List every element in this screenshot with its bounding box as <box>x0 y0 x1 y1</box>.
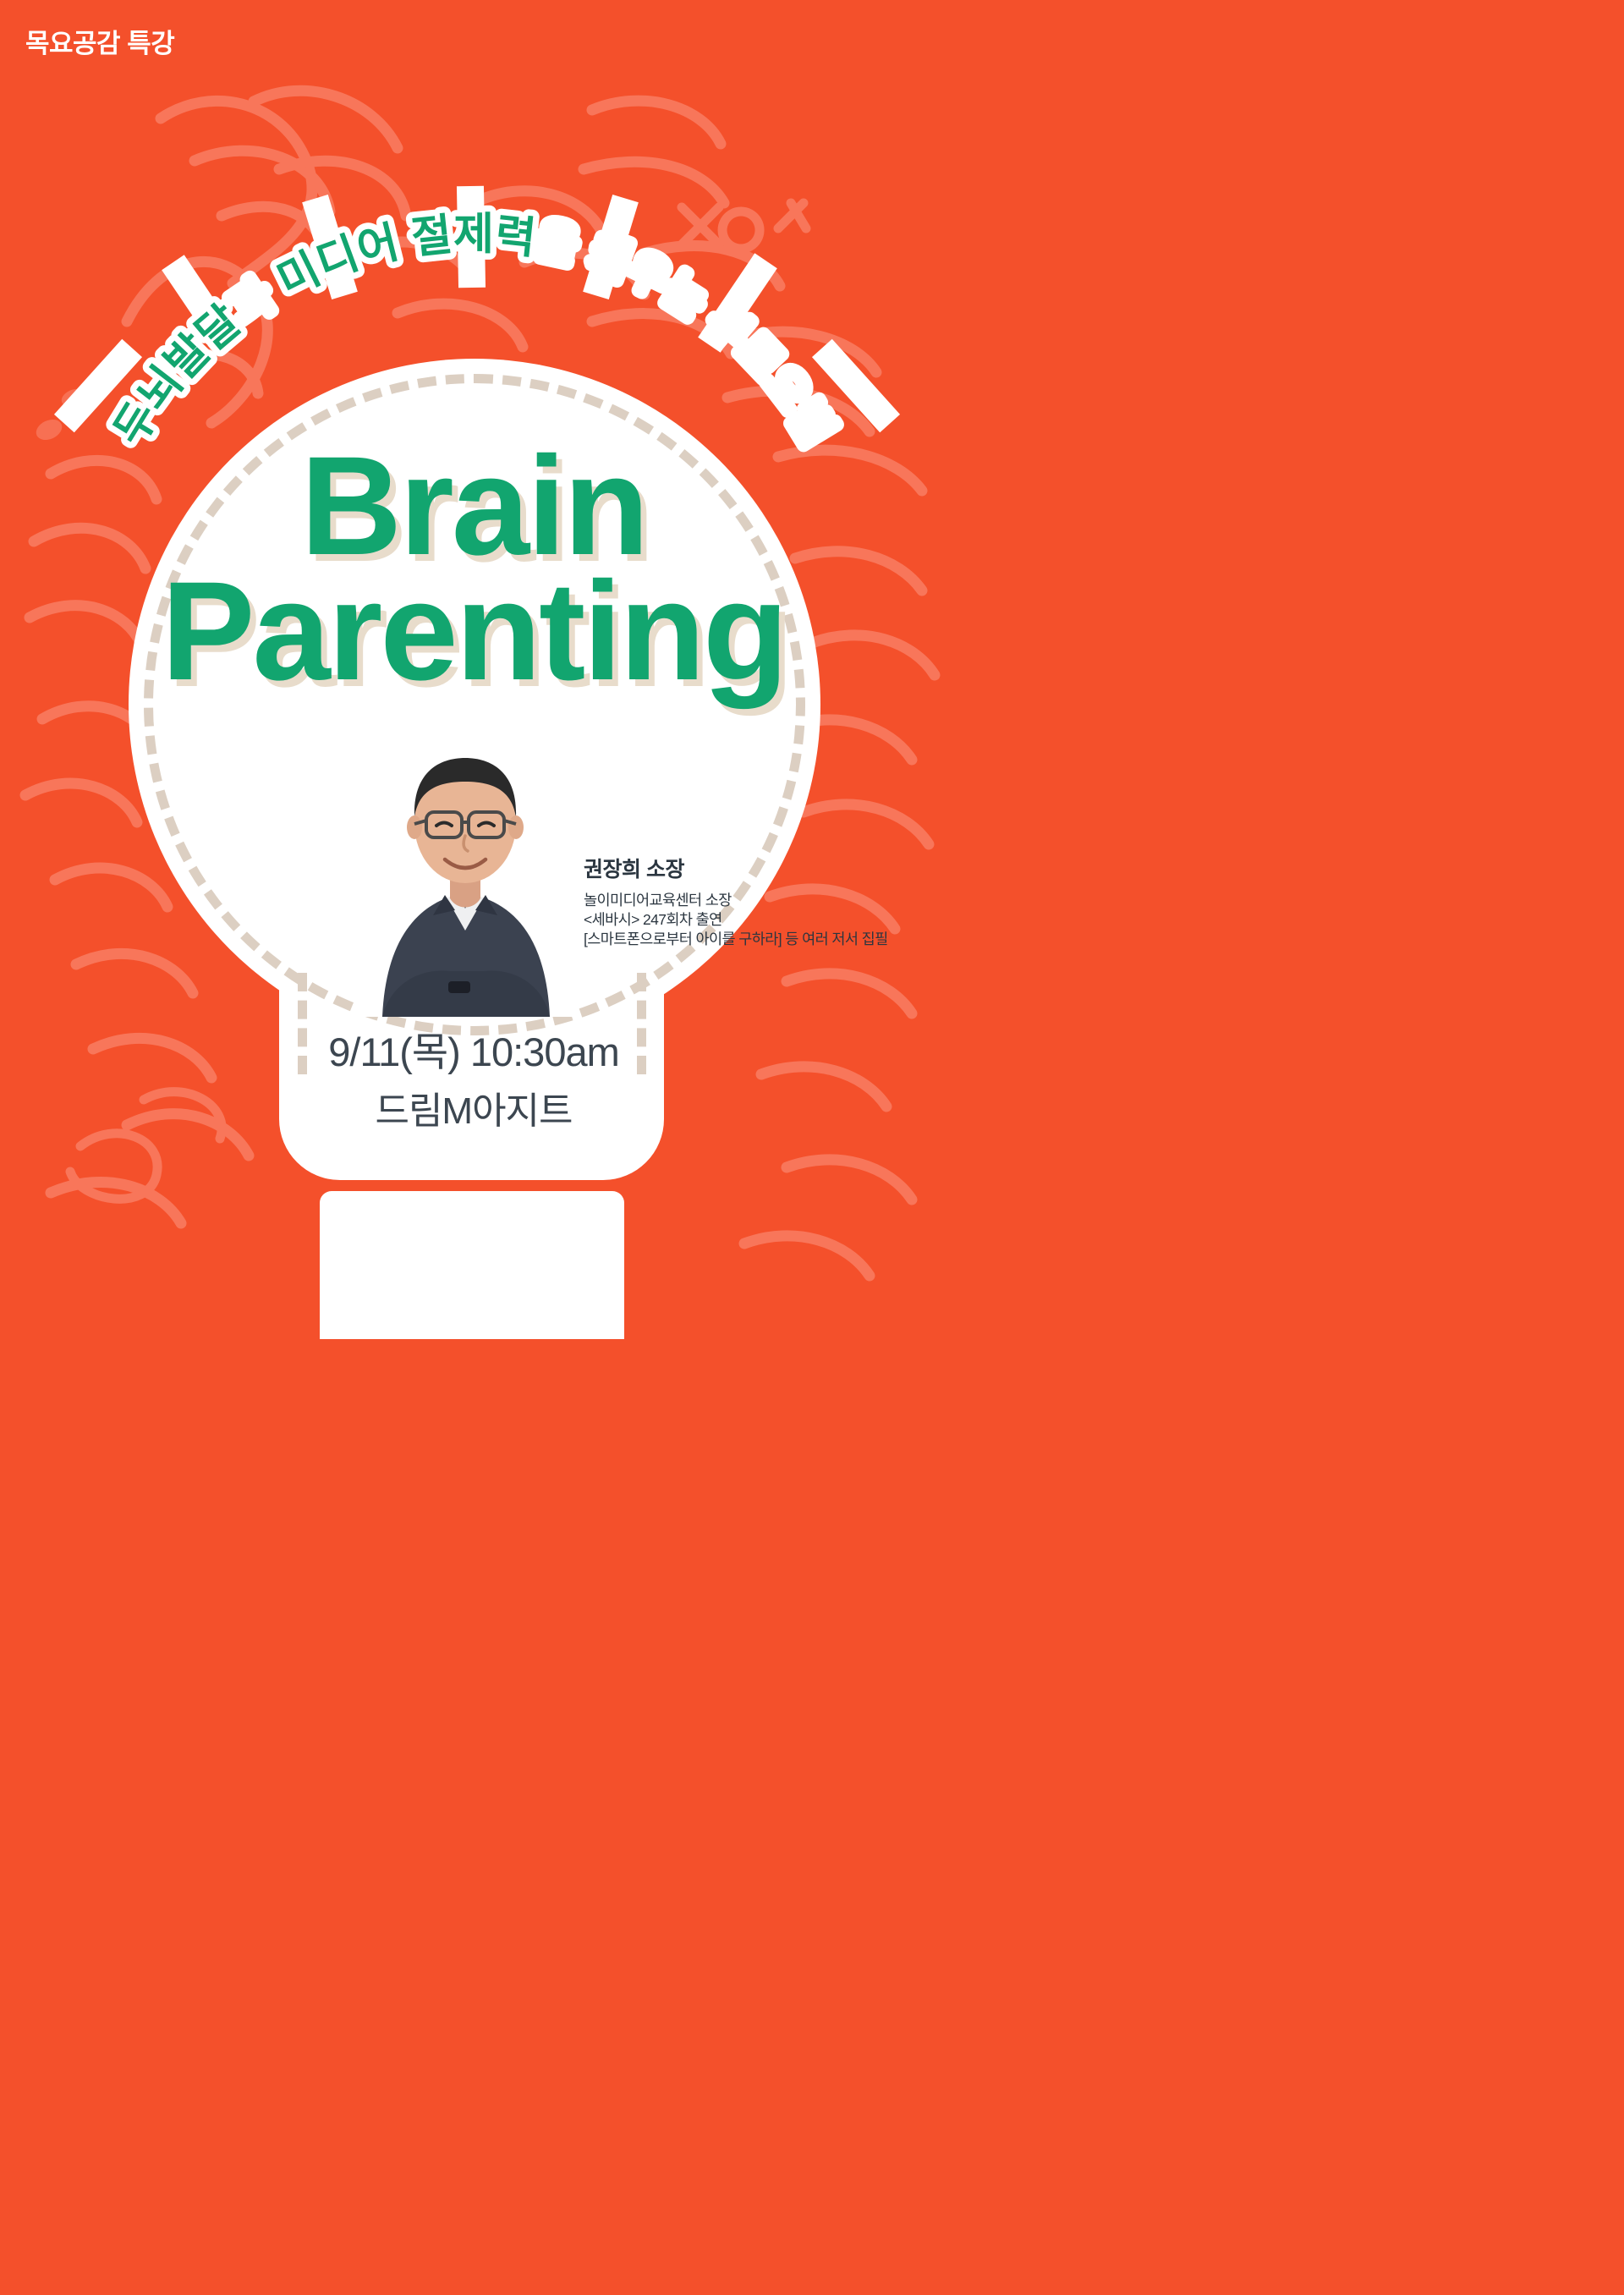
page-title: 목요공감 특강 <box>25 22 174 60</box>
speaker-info: 권장희 소장 놀이미디어교육센터 소장 <세바시> 247회차 출연 [스마트폰… <box>584 853 922 949</box>
schedule-block: 9/11(목) 10:30am 드림M아지트 <box>0 1030 947 1134</box>
speaker-credential-1: 놀이미디어교육센터 소장 <box>584 891 922 910</box>
title-line-parenting: Parenting <box>0 565 947 699</box>
speaker-photo <box>357 729 573 1017</box>
event-date: 9/11(목) 10:30am <box>0 1030 947 1075</box>
bulb-base <box>320 1191 624 1339</box>
arc-seg-1: 두뇌발달 <box>105 296 250 453</box>
poster-canvas: 목요공감 특강 두뇌발달과 미디어 절제력을 키우는 부모요법 <box>0 0 947 1339</box>
speaker-credential-2: <세바시> 247회차 출연 <box>584 910 922 930</box>
event-venue: 드림M아지트 <box>0 1080 947 1134</box>
arc-seg-2: 과 <box>222 264 293 334</box>
main-title: Brain Parenting <box>0 440 947 698</box>
speaker-name: 권장희 소장 <box>584 853 922 883</box>
arc-seg-3: 미디어 절제력 <box>270 210 538 306</box>
speaker-credential-3: [스마트폰으로부터 아이를 구하라] 등 여러 저서 집필 <box>584 930 922 949</box>
